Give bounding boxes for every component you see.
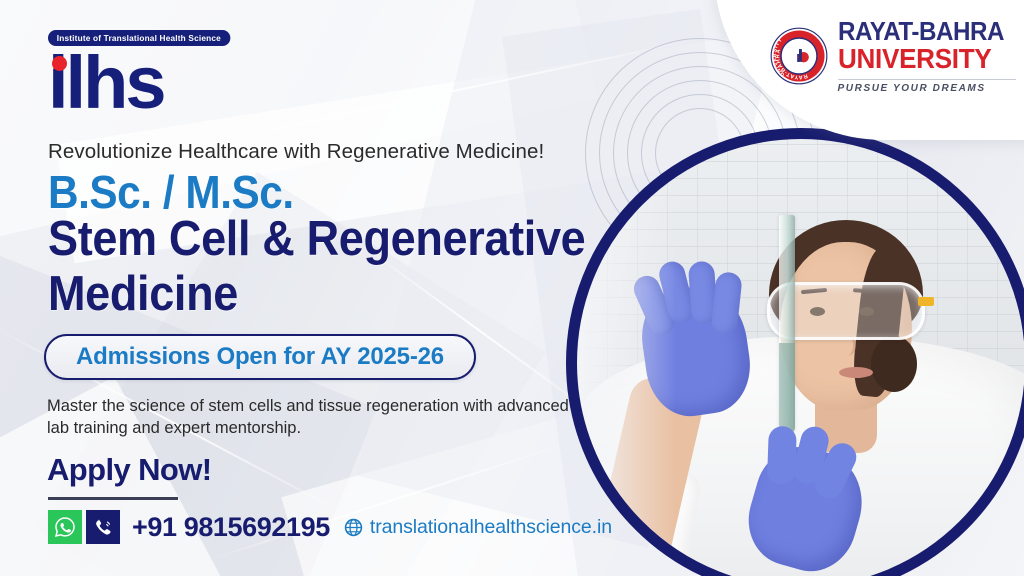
scientist-photo [566,128,1024,576]
globe-icon [344,518,363,537]
degree-line: B.Sc. / M.Sc. [48,165,294,219]
kicker-text: Revolutionize Healthcare with Regenerati… [48,140,544,164]
title-line-1: Stem Cell & Regenerative [48,212,585,267]
university-tagline: PURSUE YOUR DREAMS [838,79,1016,94]
phone-number[interactable]: +91 9815692195 [132,512,330,543]
website-url[interactable]: translationalhealthscience.in [370,516,612,539]
admissions-badge: Admissions Open for AY 2025-26 [44,334,476,380]
whatsapp-icon[interactable] [48,510,82,544]
apply-now-heading: Apply Now! [47,452,212,488]
body-paragraph: Master the science of stem cells and tis… [47,396,577,440]
phone-icon[interactable] [86,510,120,544]
title-line-2: Medicine [48,267,585,322]
university-name-line1: RAYAT-BAHRA [838,18,1004,44]
university-seal-icon: RAYAT-BAHRA UNIVERSITY r [770,27,828,85]
promotional-banner: RAYAT-BAHRA UNIVERSITY r RAYAT-BAHRA UNI… [0,0,1024,576]
institute-logo: Institute of Translational Health Scienc… [48,28,236,118]
institute-wordmark-text: ilhs [48,41,163,124]
contact-row: +91 9815692195 translationalhealthscienc… [48,510,612,544]
institute-red-dot-icon [52,56,67,71]
photo-navy-ring [566,128,1024,576]
divider-rule [48,497,178,500]
page-title: Stem Cell & Regenerative Medicine [48,212,585,322]
university-name-line2: UNIVERSITY [838,45,1004,73]
institute-wordmark: ilhs [48,48,236,118]
